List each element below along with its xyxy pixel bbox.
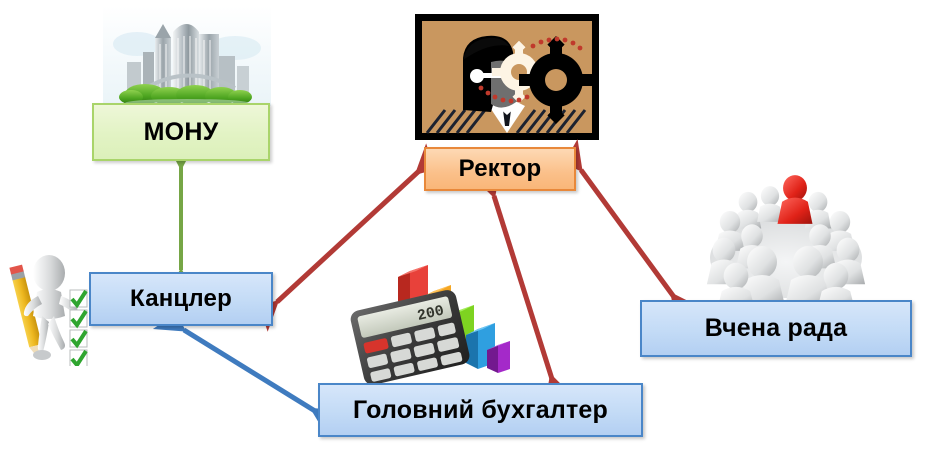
- city-skyline-image: [103, 6, 271, 106]
- node-chief-accountant-label: Головний бухгалтер: [353, 396, 608, 425]
- calculator-bar-chart-image: 200: [350, 255, 510, 383]
- node-academic-council-label: Вчена рада: [705, 314, 847, 343]
- node-chief-accountant[interactable]: Головний бухгалтер: [318, 383, 643, 437]
- connector-chancellor-chief-accountant: [184, 330, 315, 411]
- node-rector-label: Ректор: [459, 155, 542, 183]
- node-monu[interactable]: МОНУ: [92, 103, 270, 161]
- person-checklist-image: [4, 248, 92, 366]
- node-rector[interactable]: Ректор: [424, 147, 576, 191]
- connector-rector-academic-council: [581, 170, 674, 297]
- node-monu-label: МОНУ: [144, 118, 219, 147]
- node-academic-council[interactable]: Вчена рада: [640, 300, 912, 357]
- diagram-canvas: 200: [0, 0, 926, 460]
- manager-gears-image: [415, 14, 599, 140]
- council-people-image: [700, 166, 872, 302]
- node-chancellor-label: Канцлер: [130, 285, 232, 313]
- node-chancellor[interactable]: Канцлер: [89, 272, 273, 326]
